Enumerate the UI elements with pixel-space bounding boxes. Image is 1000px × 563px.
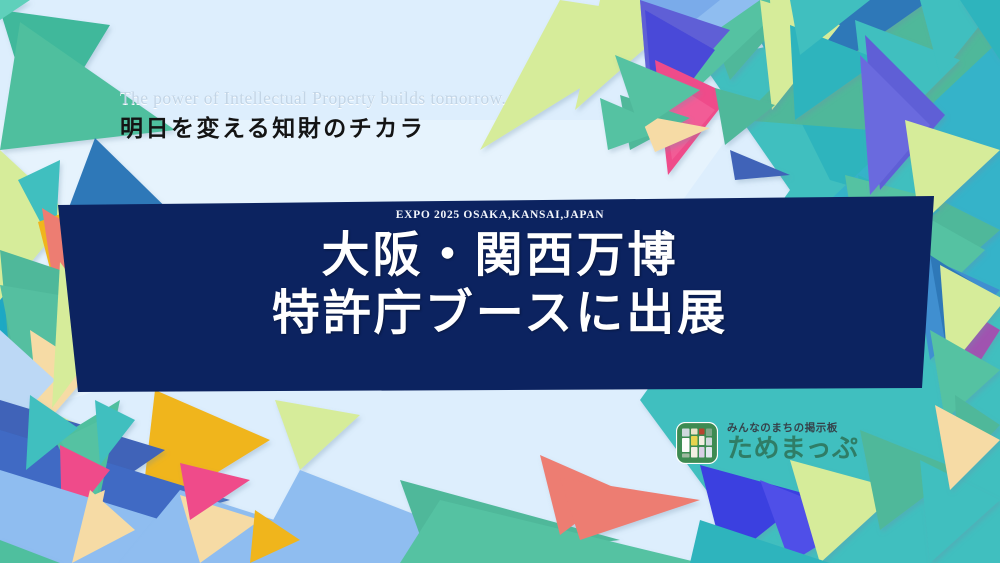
logo-text-group: みんなのまちの掲示板 ためまっぷ — [727, 423, 858, 464]
navy-banner: EXPO 2025 OSAKA,KANSAI,JAPAN 大阪・関西万博 特許庁… — [0, 196, 1000, 401]
navy-banner-text: EXPO 2025 OSAKA,KANSAI,JAPAN 大阪・関西万博 特許庁… — [0, 196, 1000, 401]
banner-title-line2: 特許庁ブースに出展 — [272, 287, 729, 341]
tagline-english: The power of Intellectual Property build… — [120, 88, 506, 110]
banner-title: 大阪・関西万博 特許庁ブースに出展 — [272, 221, 729, 341]
promo-banner-canvas: The power of Intellectual Property build… — [0, 0, 1000, 563]
tamemap-logo-lockup[interactable]: みんなのまちの掲示板 ためまっぷ — [676, 422, 858, 464]
tagline-japanese: 明日を変える知財のチカラ — [120, 114, 506, 145]
tamemap-bulletin-board-icon — [676, 422, 718, 464]
logo-subtitle: みんなのまちの掲示板 — [727, 423, 858, 435]
tagline-block: The power of Intellectual Property build… — [120, 88, 506, 145]
expo-eyebrow-label: EXPO 2025 OSAKA,KANSAI,JAPAN — [396, 209, 605, 221]
logo-name: ためまっぷ — [727, 435, 858, 463]
banner-title-line1: 大阪・関西万博 — [272, 229, 729, 283]
